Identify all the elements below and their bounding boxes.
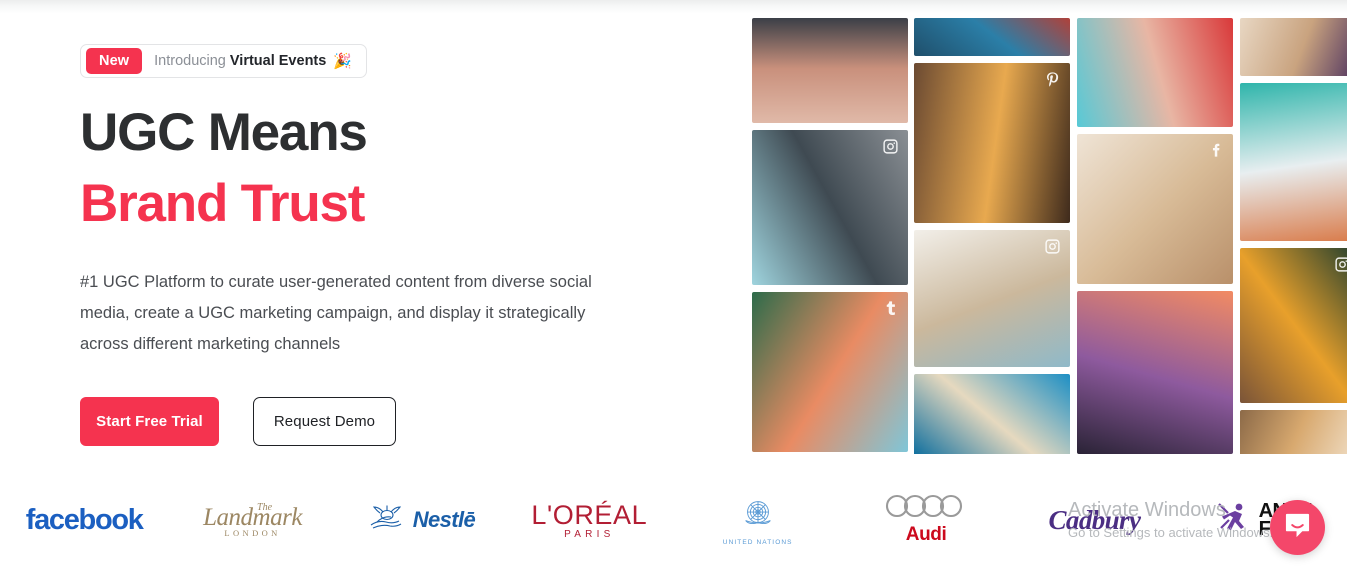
logo-loreal-sub: PARIS — [531, 529, 647, 540]
gallery-image-skateboarder-sunset-ramp — [1077, 291, 1233, 454]
logo-landmark-label: Landmark — [203, 504, 302, 531]
logo-audi-label: Audi — [884, 524, 968, 546]
gallery-image-blue-fabric-crop — [914, 18, 1070, 56]
logo-un-sub: UNITED NATIONS — [723, 539, 793, 546]
chat-widget-button[interactable] — [1270, 500, 1325, 555]
logo-facebook[interactable]: facebook — [0, 470, 168, 570]
audi-four-rings-icon — [884, 505, 968, 522]
gallery-tile[interactable] — [914, 63, 1070, 223]
gallery-column-1 — [752, 18, 908, 454]
gallery-image-watch-on-wrist-pink-sweater — [752, 18, 908, 123]
logo-loreal-paris[interactable]: L'ORÉAL PARIS — [505, 470, 673, 570]
headline-line-2: Brand Trust — [80, 177, 720, 231]
request-demo-button[interactable]: Request Demo — [253, 397, 396, 446]
gallery-image-cyclist-red-bike-desert — [1077, 18, 1233, 127]
gallery-tile[interactable] — [752, 130, 908, 285]
hero-content: New Introducing Virtual Events 🎉 UGC Mea… — [80, 44, 720, 446]
landing-page: New Introducing Virtual Events 🎉 UGC Mea… — [0, 0, 1347, 570]
gallery-column-3 — [1077, 18, 1233, 454]
gallery-tile[interactable] — [1077, 134, 1233, 284]
announcement-badge[interactable]: New Introducing Virtual Events 🎉 — [80, 44, 367, 78]
gallery-tile[interactable] — [914, 18, 1070, 56]
gallery-image-sand-plate-crop — [1240, 18, 1347, 76]
gallery-tile[interactable] — [914, 374, 1070, 454]
brand-logo-strip: facebook The Landmark LONDON — [0, 470, 1347, 570]
instagram-icon — [882, 138, 899, 155]
page-title: UGC Means Brand Trust — [80, 106, 720, 231]
instagram-icon — [1334, 256, 1347, 273]
gallery-tile[interactable] — [1240, 410, 1347, 454]
nestle-bird-nest-icon — [367, 503, 407, 538]
start-free-trial-button[interactable]: Start Free Trial — [80, 397, 219, 446]
logo-united-nations[interactable]: UNITED NATIONS — [674, 470, 842, 570]
gallery-column-2 — [914, 18, 1070, 454]
badge-intro-text: Introducing — [154, 53, 226, 69]
pinterest-icon — [1044, 71, 1061, 88]
logo-loreal-label: L'ORÉAL — [531, 500, 647, 530]
gallery-image-child-eating-corn-garden — [1240, 248, 1347, 403]
facebook-icon — [1207, 142, 1224, 159]
logo-audi[interactable]: Audi — [842, 470, 1010, 570]
gallery-tile[interactable] — [752, 292, 908, 452]
instagram-icon — [1044, 238, 1061, 255]
gallery-tile[interactable] — [914, 230, 1070, 367]
party-popper-emoji: 🎉 — [333, 52, 352, 70]
gallery-tile[interactable] — [752, 18, 908, 123]
tumblr-icon — [882, 300, 899, 317]
logo-facebook-label: facebook — [26, 504, 143, 537]
gallery-tile[interactable] — [1240, 83, 1347, 241]
logo-cadbury[interactable]: Cadbury — [1010, 470, 1178, 570]
united-nations-globe-icon — [739, 519, 777, 536]
gallery-image-woman-sunglasses-bokeh — [1240, 410, 1347, 454]
sticky-header-shadow — [0, 0, 1347, 14]
badge-new-label: New — [86, 48, 142, 74]
badge-feature-text: Virtual Events — [230, 53, 326, 69]
logo-nestle[interactable]: Nestlē — [337, 470, 505, 570]
logo-cadbury-label: Cadbury — [1049, 505, 1141, 536]
chat-bubble-icon — [1284, 512, 1311, 544]
headline-line-1: UGC Means — [80, 106, 720, 160]
gallery-tile[interactable] — [1077, 18, 1233, 127]
ugc-image-gallery — [752, 18, 1347, 454]
gallery-tile[interactable] — [1077, 291, 1233, 454]
gallery-tile[interactable] — [1240, 18, 1347, 76]
gallery-column-4 — [1240, 18, 1347, 454]
logo-nestle-label: Nestlē — [413, 507, 475, 533]
anytime-fitness-runner-icon — [1215, 498, 1255, 543]
gallery-image-boats-bay-breakfast-table — [914, 374, 1070, 454]
logo-the-landmark-london[interactable]: The Landmark LONDON — [168, 470, 336, 570]
gallery-tile[interactable] — [1240, 248, 1347, 403]
hero-subcopy: #1 UGC Platform to curate user-generated… — [80, 267, 625, 360]
gallery-image-aerial-ocean-pool — [1240, 83, 1347, 241]
cta-row: Start Free Trial Request Demo — [80, 397, 720, 446]
